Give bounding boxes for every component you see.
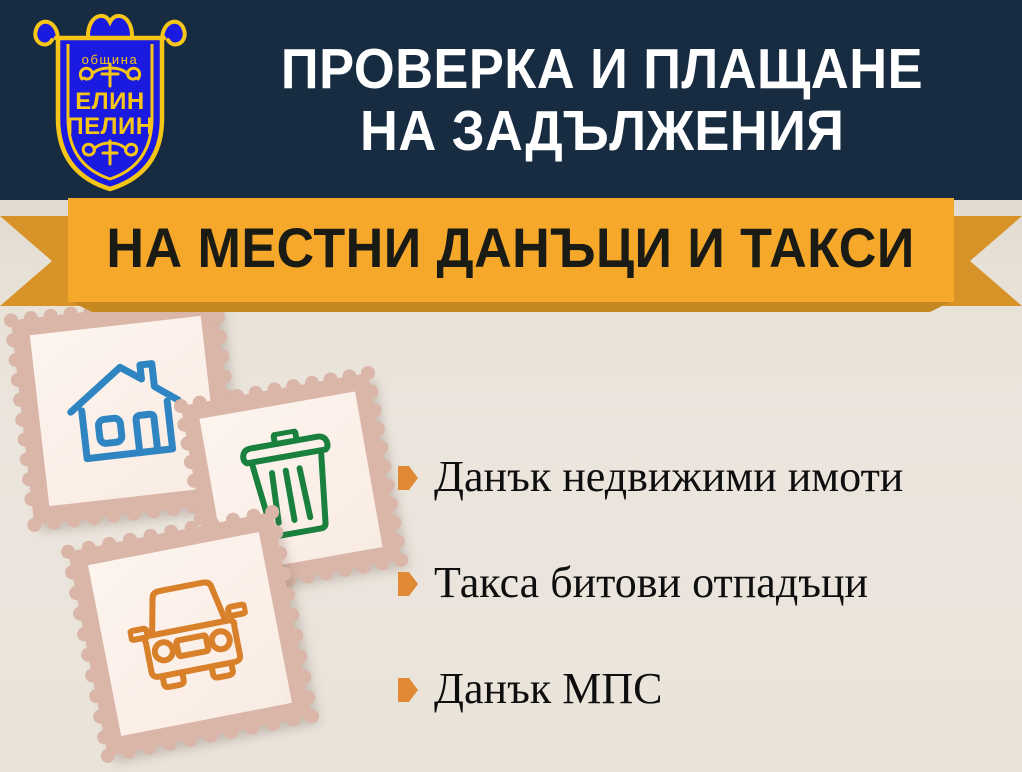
car-icon (120, 571, 260, 696)
list-item-label: Данък МПС (434, 666, 662, 712)
ribbon-banner: НА МЕСТНИ ДАНЪЦИ И ТАКСИ (0, 196, 1022, 308)
poster-canvas: община ЕЛИН ПЕЛИН ПРОВЕРКА И ПЛАЩАНЕ НА … (0, 0, 1022, 772)
list-item[interactable]: Такса битови отпадъци (398, 530, 1012, 636)
arrow-pentagon-bullet-icon (398, 678, 418, 702)
list-item[interactable]: Данък МПС (398, 636, 1012, 742)
header-title-line-1: ПРОВЕРКА И ПЛАЩАНЕ (281, 39, 923, 101)
house-icon (61, 353, 188, 469)
list-item-label: Данък недвижими имоти (434, 454, 903, 500)
ribbon-text: НА МЕСТНИ ДАНЪЦИ И ТАКСИ (107, 220, 915, 280)
stamp-paper-vehicle (88, 532, 292, 736)
arrow-pentagon-bullet-icon (398, 572, 418, 596)
stamp-card-group (0, 300, 420, 770)
arrow-pentagon-bullet-icon (398, 466, 418, 490)
coat-of-arms-icon: община ЕЛИН ПЕЛИН (30, 8, 190, 193)
stamp-card-vehicle (68, 512, 312, 756)
list-item[interactable]: Данък недвижими имоти (398, 424, 1012, 530)
header-title: ПРОВЕРКА И ПЛАЩАНЕ НА ЗАДЪЛЖЕНИЯ (196, 16, 1008, 186)
tax-type-list: Данък недвижими имоти Такса битови отпад… (398, 424, 1012, 742)
list-item-label: Такса битови отпадъци (434, 560, 868, 606)
crest-text-pelin: ПЕЛИН (66, 113, 153, 140)
crest-text-elin: ЕЛИН (75, 88, 144, 115)
ribbon-band: НА МЕСТНИ ДАНЪЦИ И ТАКСИ (68, 198, 954, 302)
header-title-line-2: НА ЗАДЪЛЖЕНИЯ (360, 101, 844, 163)
